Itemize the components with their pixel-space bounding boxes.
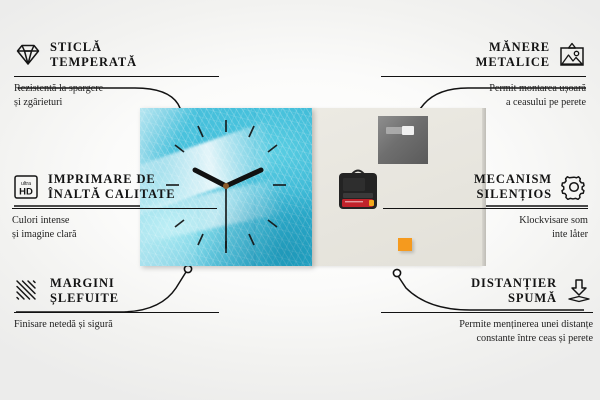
subtitle-line-2: și zgârieturi xyxy=(14,96,219,110)
divider xyxy=(12,208,217,210)
title-line-1: MARGINI xyxy=(50,276,119,291)
feature-subtitle: Culori intense și imagine clară xyxy=(12,214,217,242)
feature-foam-spacer: DISTANȚIER SPUMĂ Permite menținerea unei… xyxy=(381,276,593,346)
feature-header: ultra HD IMPRIMARE DE ÎNALTĂ CALITATE xyxy=(12,172,217,203)
metal-hanger-plate xyxy=(378,116,428,164)
title-line-1: DISTANȚIER xyxy=(471,276,557,291)
icon-text-hd: HD xyxy=(19,187,33,198)
title-line-1: MECANISM xyxy=(474,172,552,187)
title-line-1: IMPRIMARE DE xyxy=(48,172,176,187)
battery xyxy=(342,199,373,207)
title-line-2: METALICE xyxy=(476,55,550,70)
divider xyxy=(381,76,586,78)
subtitle-line-2: a ceasului pe perete xyxy=(381,96,586,110)
clock-center-cap xyxy=(223,183,229,189)
feature-header: MĂNERE METALICE xyxy=(381,40,586,71)
gear-icon xyxy=(560,174,588,200)
feature-high-quality-print: ultra HD IMPRIMARE DE ÎNALTĂ CALITATE Cu… xyxy=(12,172,217,242)
feature-header: MECANISM SILENȚIOS xyxy=(383,172,588,203)
divider xyxy=(383,208,588,210)
clock-mechanism xyxy=(338,166,378,210)
title-line-2: ÎNALTĂ CALITATE xyxy=(48,187,176,202)
diamond-icon xyxy=(14,42,42,68)
divider xyxy=(14,312,219,314)
connector-dot-3 xyxy=(184,265,191,272)
title-line-2: TEMPERATĂ xyxy=(50,55,137,70)
title-line-1: MĂNERE xyxy=(476,40,550,55)
title-line-2: ȘLEFUITE xyxy=(50,291,119,306)
infographic-canvas: STICLĂ TEMPERATĂ Rezistentă la spargere … xyxy=(0,0,600,400)
feature-subtitle: Klockvisare som inte låter xyxy=(383,214,588,242)
subtitle-line-1: Permite menținerea unei distanțe xyxy=(381,318,593,332)
feature-subtitle: Rezistentă la spargere și zgârieturi xyxy=(14,82,219,110)
foam-spacer-icon xyxy=(565,278,593,304)
subtitle-line-2: inte låter xyxy=(383,228,588,242)
feature-subtitle: Finisare netedă și sigură xyxy=(14,318,219,332)
picture-hanger-icon xyxy=(558,42,586,68)
feature-header: DISTANȚIER SPUMĂ xyxy=(381,276,593,307)
subtitle-line-2: și imagine clară xyxy=(12,228,217,242)
feature-title: STICLĂ TEMPERATĂ xyxy=(50,40,137,71)
feature-header: STICLĂ TEMPERATĂ xyxy=(14,40,219,71)
subtitle-line-1: Culori intense xyxy=(12,214,217,228)
feature-title: IMPRIMARE DE ÎNALTĂ CALITATE xyxy=(48,172,176,203)
feature-subtitle: Permit montarea ușoară a ceasului pe per… xyxy=(381,82,586,110)
title-line-2: SILENȚIOS xyxy=(474,187,552,202)
title-line-1: STICLĂ xyxy=(50,40,137,55)
subtitle-line-1: Finisare netedă și sigură xyxy=(14,318,219,332)
divider xyxy=(14,76,219,78)
feature-metal-hangers: MĂNERE METALICE Permit montarea ușoară a… xyxy=(381,40,586,110)
feature-tempered-glass: STICLĂ TEMPERATĂ Rezistentă la spargere … xyxy=(14,40,219,110)
feature-polished-edges: MARGINI ȘLEFUITE Finisare netedă și sigu… xyxy=(14,276,219,332)
feature-header: MARGINI ȘLEFUITE xyxy=(14,276,219,307)
subtitle-line-1: Rezistentă la spargere xyxy=(14,82,219,96)
feature-title: DISTANȚIER SPUMĂ xyxy=(471,276,557,307)
divider xyxy=(381,312,593,314)
subtitle-line-1: Permit montarea ușoară xyxy=(381,82,586,96)
title-line-2: SPUMĂ xyxy=(471,291,557,306)
feature-title: MĂNERE METALICE xyxy=(476,40,550,71)
subtitle-line-1: Klockvisare som xyxy=(383,214,588,228)
feature-silent-mechanism: MECANISM SILENȚIOS Klockvisare som inte … xyxy=(383,172,588,242)
minute-hand xyxy=(226,170,261,186)
feature-subtitle: Permite menținerea unei distanțe constan… xyxy=(381,318,593,346)
feature-title: MECANISM SILENȚIOS xyxy=(474,172,552,203)
subtitle-line-2: constante între ceas și perete xyxy=(381,332,593,346)
beveled-edge-icon xyxy=(14,278,42,304)
feature-title: MARGINI ȘLEFUITE xyxy=(50,276,119,307)
ultra-hd-icon: ultra HD xyxy=(12,174,40,200)
